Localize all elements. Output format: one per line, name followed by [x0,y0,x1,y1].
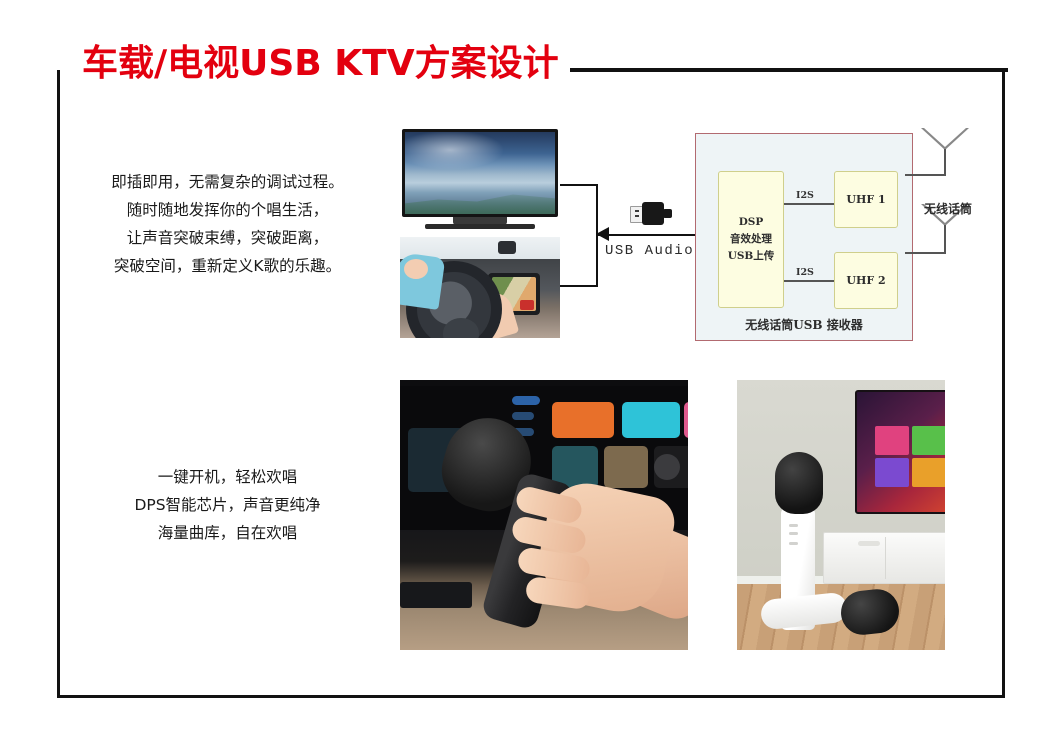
microphone-button[interactable] [789,532,798,535]
flat-screen-tv-photo [400,127,560,232]
intro-line-1: 即插即用，无需复杂的调试过程。 [70,168,385,196]
screen-tile [684,402,688,438]
intro-line-3: 让声音突破束缚，突破距离， [70,224,385,252]
usb-pin [635,215,639,217]
wireless-microphone-label: 无线话筒 [924,200,972,217]
screen-tile [552,402,614,438]
diagram-caption: 无线话筒USB 接收器 [696,316,912,333]
i2s-label-2: I2S [796,267,814,278]
i2s-label-1: I2S [796,190,814,201]
antenna-icon-inner [924,128,966,147]
dsp-block-line-2: 音效处理 [730,231,772,248]
tv-tile-grid [875,426,945,488]
antenna-stem-2 [944,225,946,253]
car-dashboard-photo [400,237,560,338]
car-rearview-mirror [498,241,516,254]
tv-tile [875,426,909,455]
i2s-line-2 [784,280,834,282]
feature-line-3: 海量曲库，自在欢唱 [70,519,385,547]
screen-tile [604,446,648,488]
receiver-block-diagram: DSP 音效处理 USB上传 UHF 1 UHF 2 I2S I2S 无线话筒U… [695,133,913,341]
tv-cabinet [823,532,945,584]
feature-line-2: DPS智能芯片，声音更纯净 [70,491,385,519]
microphones-living-room-photo [737,380,945,650]
microphone-button[interactable] [789,524,798,527]
standing-microphone-foam-head [775,452,823,514]
uhf2-antenna-lead [905,252,946,254]
steering-wheel-hub [443,318,479,338]
tv-tile [912,426,945,455]
usb-audio-label: USB Audio [605,243,694,259]
driver-hand [404,259,428,279]
intro-line-4: 突破空间，重新定义K歌的乐趣。 [70,252,385,280]
uhf1-antenna-lead [905,174,946,176]
microphone-button[interactable] [789,542,798,545]
feature-line-1: 一键开机，轻松欢唱 [70,463,385,491]
microphone-in-car-photo [400,380,688,650]
antenna-stem-1 [944,149,946,175]
screen-tile-icon [654,454,680,480]
screen-tile [512,412,534,420]
tv-bezel [402,129,558,217]
screen-tile [622,402,680,438]
usb-connector-icon [630,201,672,225]
usb-pin [635,210,639,212]
tv-tile [875,458,909,487]
dsp-block: DSP 音效处理 USB上传 [718,171,784,308]
living-room-tv [855,390,945,514]
uhf2-block: UHF 2 [834,252,898,309]
tv-screen-image [405,132,555,214]
usb-plug-body [642,202,664,225]
tv-tile [912,458,945,487]
dsp-block-line-3: USB上传 [728,248,775,265]
intro-line-2: 随时随地发挥你的个唱生活， [70,196,385,224]
cabinet-divider [885,537,886,579]
car-connector-line [560,285,598,287]
usb-audio-link-line [598,234,698,236]
car-air-vent [400,582,472,608]
i2s-line-1 [784,203,834,205]
tv-stand-foot [425,224,535,229]
usb-cable-tip [663,209,672,218]
screen-tile [512,396,540,405]
page-title: 车载/电视USB KTV方案设计 [82,42,559,86]
intro-paragraph: 即插即用，无需复杂的调试过程。 随时随地发挥你的个唱生活， 让声音突破束缚，突破… [70,168,385,280]
arrow-left-icon [596,227,609,241]
dsp-block-line-1: DSP [739,214,764,231]
cabinet-remote [858,541,880,546]
uhf1-block: UHF 1 [834,171,898,228]
title-underline-rule [570,68,1008,72]
tv-connector-line [560,184,598,186]
features-paragraph: 一键开机，轻松欢唱 DPS智能芯片，声音更纯净 海量曲库，自在欢唱 [70,463,385,547]
